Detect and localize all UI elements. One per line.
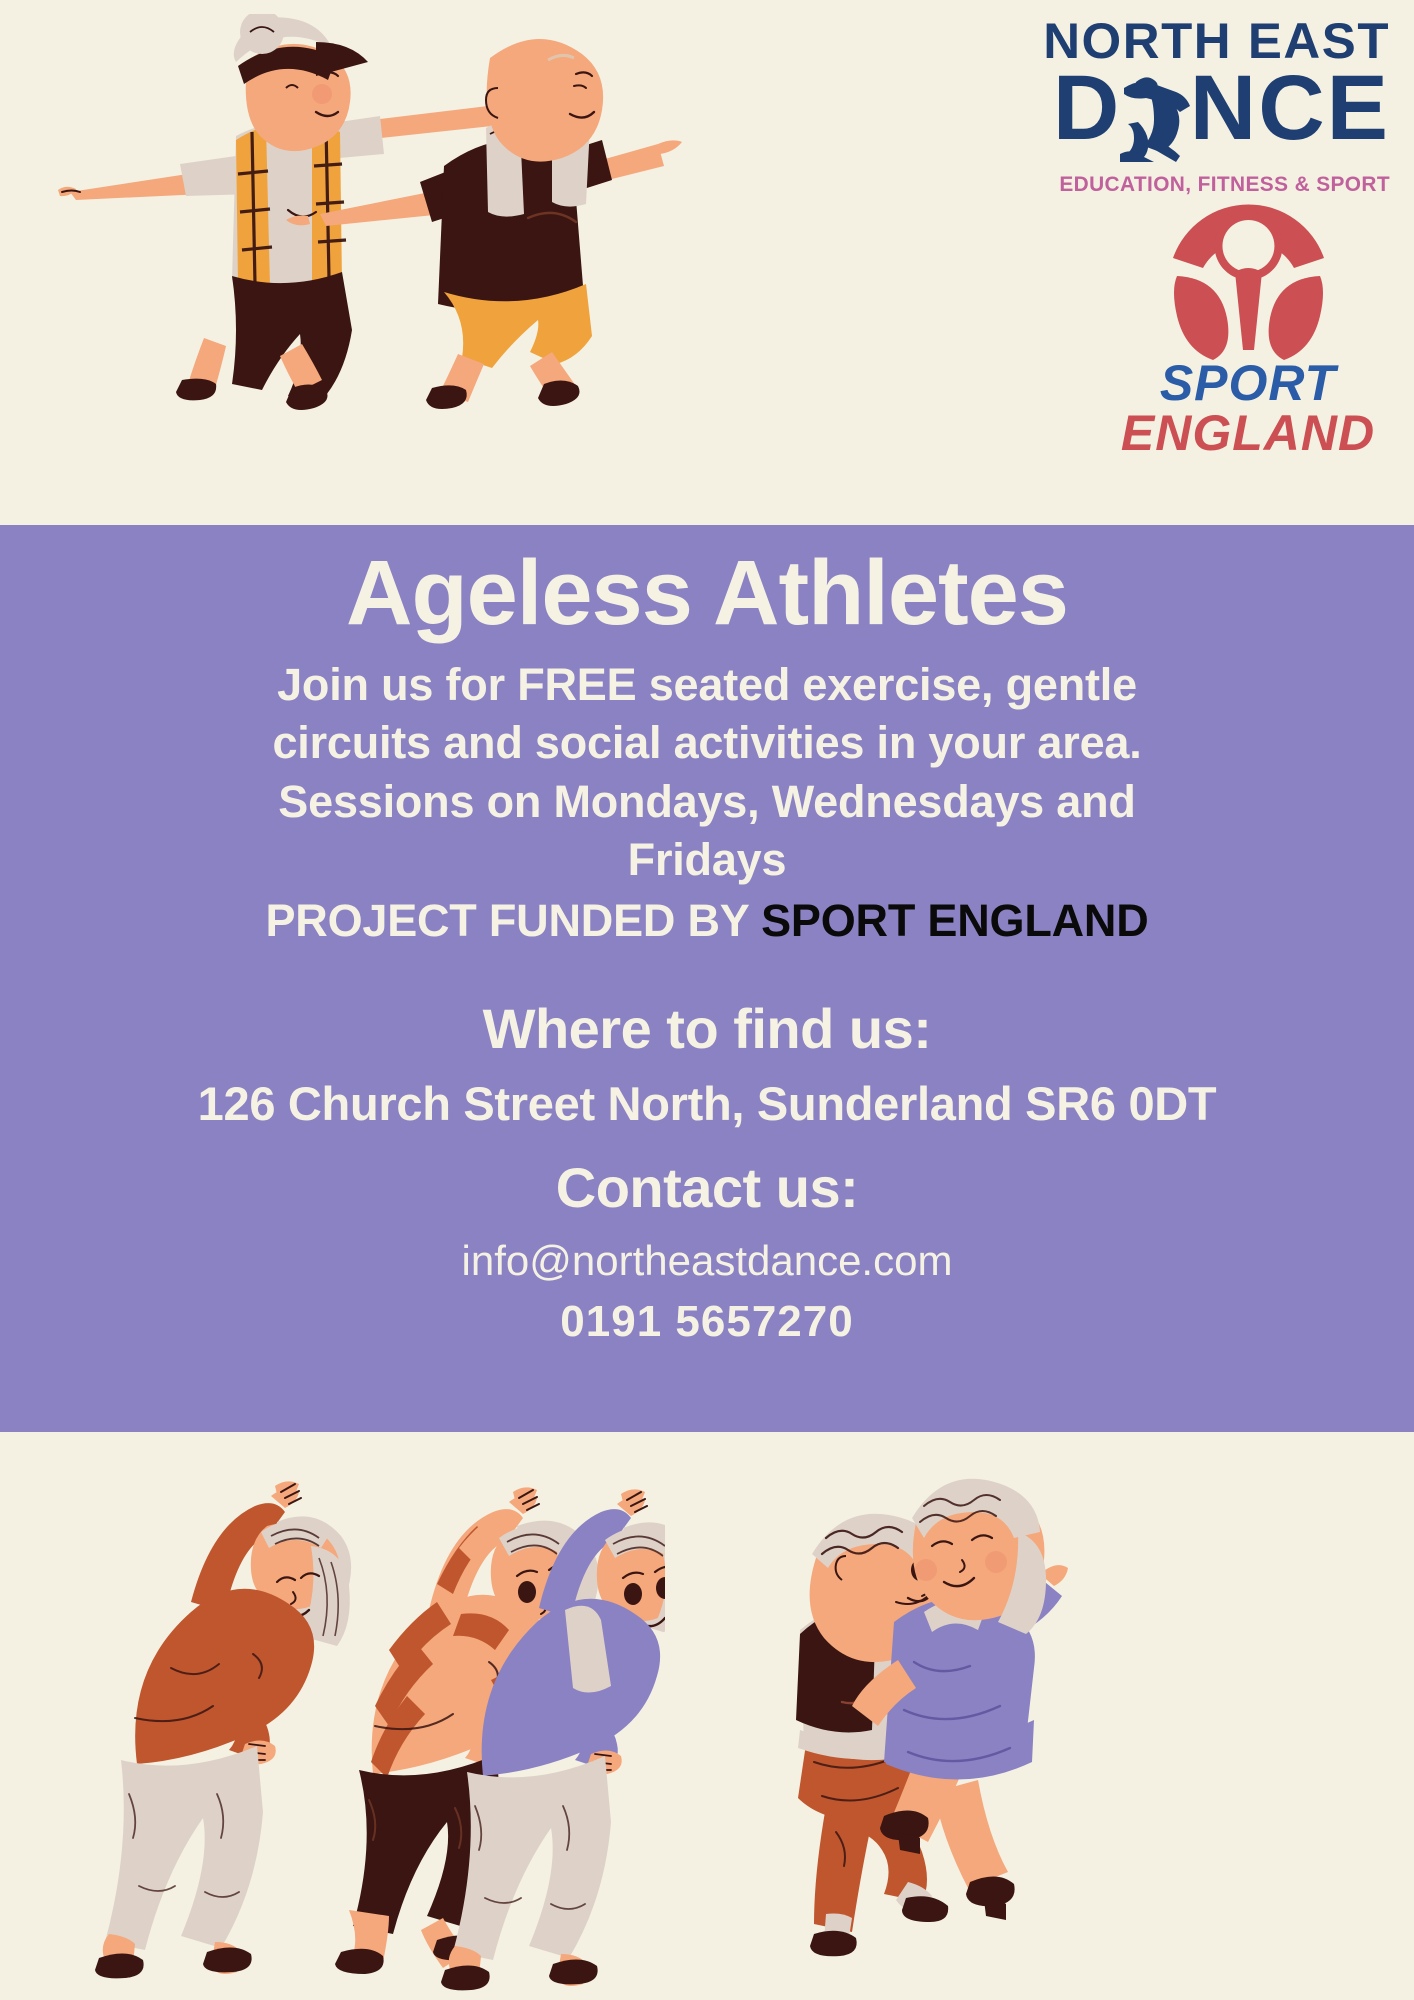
top-illustration-band: NORTH EAST DANCE EDUCATION, FITNESS & SP… [0, 0, 1414, 525]
dancer-silhouette-icon [1116, 66, 1202, 162]
bottom-illustration-band [0, 1432, 1414, 2000]
elderly-woman-side-stretch-rust-figure [95, 1481, 351, 1978]
poster-root: NORTH EAST DANCE EDUCATION, FITNESS & SP… [0, 0, 1414, 2000]
intro-line-3: Sessions on Mondays, Wednesdays and [170, 773, 1244, 832]
intro-line-4: Fridays [170, 831, 1244, 890]
logo-line-dance: DANCE [1053, 62, 1390, 154]
intro-paragraph: Join us for FREE seated exercise, gentle… [0, 642, 1414, 890]
sport-england-word-sport: SPORT [1118, 359, 1378, 408]
funding-brand: SPORT ENGLAND [761, 895, 1148, 946]
poster-title: Ageless Athletes [0, 525, 1414, 642]
sport-england-word-england: ENGLAND [1118, 408, 1378, 458]
top-exercise-illustration [40, 14, 700, 414]
dancing-couple-illustration [730, 1462, 1110, 2000]
main-content-band: Ageless Athletes Join us for FREE seated… [0, 525, 1414, 1432]
sport-england-person-icon [1161, 190, 1336, 365]
contact-phone[interactable]: 0191 5657270 [0, 1297, 1414, 1348]
funding-line: PROJECT FUNDED BY SPORT ENGLAND [0, 892, 1414, 951]
funding-prefix: PROJECT FUNDED BY [265, 895, 761, 946]
contact-email[interactable]: info@northeastdance.com [0, 1237, 1414, 1285]
north-east-dance-logo: NORTH EAST DANCE EDUCATION, FITNESS & SP… [1020, 16, 1390, 196]
where-to-find-us-heading: Where to find us: [0, 998, 1414, 1060]
contact-us-heading: Contact us: [0, 1157, 1414, 1219]
venue-address: 126 Church Street North, Sunderland SR6 … [0, 1078, 1414, 1130]
logo-nce-letters: NCE [1190, 57, 1390, 159]
sport-england-logo: SPORT ENGLAND [1118, 190, 1378, 458]
intro-line-1: Join us for FREE seated exercise, gentle [170, 656, 1244, 715]
logo-d-letter: D [1053, 57, 1121, 159]
intro-line-2: circuits and social activities in your a… [170, 714, 1244, 773]
side-stretch-group-illustration [95, 1472, 665, 2000]
